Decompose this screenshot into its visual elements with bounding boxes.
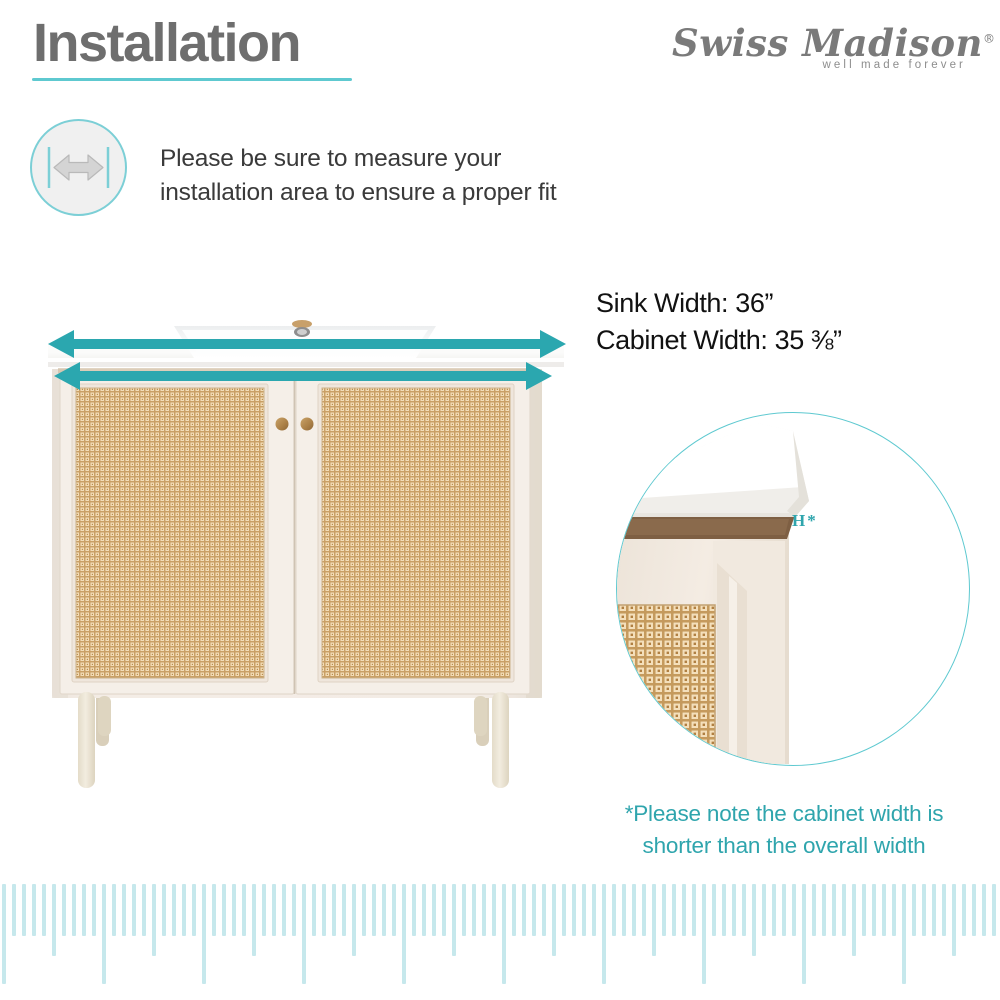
door-knob-left — [276, 418, 289, 431]
ruler-tick — [552, 884, 556, 956]
ruler-tick — [782, 884, 786, 936]
ruler-tick — [412, 884, 416, 936]
ruler-tick — [442, 884, 446, 936]
ruler-tick — [142, 884, 146, 936]
ruler-tick — [242, 884, 246, 936]
ruler-tick — [752, 884, 756, 956]
ruler-tick — [182, 884, 186, 936]
ruler-tick — [482, 884, 486, 936]
ruler-tick — [382, 884, 386, 936]
measure-note-text: Please be sure to measure your installat… — [160, 142, 590, 210]
ruler-tick — [572, 884, 576, 936]
ruler-tick — [802, 884, 806, 984]
footnote: *Please note the cabinet width is shorte… — [594, 798, 974, 862]
ruler-tick — [862, 884, 866, 936]
ruler-tick — [562, 884, 566, 936]
ruler-tick — [72, 884, 76, 936]
door-knob-right — [301, 418, 314, 431]
footnote-line-2: shorter than the overall width — [594, 830, 974, 862]
measure-note-line-2: installation area to ensure a proper fit — [160, 176, 590, 210]
ruler-tick — [42, 884, 46, 936]
ruler-tick — [982, 884, 986, 936]
ruler-tick — [212, 884, 216, 936]
measure-icon-badge — [30, 119, 127, 216]
ruler-tick — [972, 884, 976, 936]
ruler-tick — [102, 884, 106, 984]
ruler-tick — [932, 884, 936, 936]
ruler-tick — [622, 884, 626, 936]
ruler-tick — [22, 884, 26, 936]
ruler-tick — [522, 884, 526, 936]
ruler-tick — [272, 884, 276, 936]
ruler-tick — [92, 884, 96, 936]
ruler-tick — [512, 884, 516, 936]
ruler-tick — [252, 884, 256, 956]
ruler-tick — [902, 884, 906, 984]
leg-front-left — [78, 692, 95, 788]
cabinet-width-label: Cabinet Width: 35 ⅜” — [596, 322, 991, 359]
ruler-tick — [892, 884, 896, 936]
ruler-tick — [12, 884, 16, 936]
ruler-tick — [692, 884, 696, 936]
ruler-tick — [82, 884, 86, 936]
horizontal-double-arrow-icon — [32, 121, 125, 214]
ruler-tick — [222, 884, 226, 936]
ruler-tick — [402, 884, 406, 984]
ruler-tick — [842, 884, 846, 936]
ruler-tick — [192, 884, 196, 936]
ruler-tick — [332, 884, 336, 936]
ruler-tick — [302, 884, 306, 984]
leg-front-right — [492, 692, 509, 788]
faucet-hole — [292, 320, 312, 328]
page-title: Installation — [33, 16, 300, 70]
ruler-tick — [962, 884, 966, 936]
ruler-tick — [612, 884, 616, 936]
ruler-tick — [922, 884, 926, 936]
ruler-tick — [262, 884, 266, 936]
ruler-tick — [62, 884, 66, 936]
ruler-tick — [872, 884, 876, 936]
ruler-tick — [912, 884, 916, 936]
ruler-tick — [292, 884, 296, 936]
ruler-tick — [762, 884, 766, 936]
ruler-tick — [702, 884, 706, 984]
ruler-tick — [312, 884, 316, 936]
ruler-tick — [832, 884, 836, 936]
ruler-tick — [162, 884, 166, 936]
detail-marker-label: H — [792, 511, 807, 530]
dimension-block: Sink Width: 36” Cabinet Width: 35 ⅜” — [596, 285, 991, 360]
ruler-tick — [632, 884, 636, 936]
ruler-tick — [642, 884, 646, 936]
ruler-tick — [502, 884, 506, 984]
ruler-tick — [882, 884, 886, 936]
ruler-tick — [792, 884, 796, 936]
ruler-tick — [452, 884, 456, 956]
ruler-tick — [472, 884, 476, 936]
ruler-tick — [112, 884, 116, 936]
ruler-tick — [952, 884, 956, 956]
ruler-tick — [492, 884, 496, 936]
ruler-tick — [852, 884, 856, 956]
ruler-tick — [602, 884, 606, 984]
ruler-tick — [392, 884, 396, 936]
ruler-tick — [152, 884, 156, 956]
ruler-tick — [282, 884, 286, 936]
ruler-decoration — [0, 884, 1000, 1000]
ruler-tick — [432, 884, 436, 936]
ruler-tick — [672, 884, 676, 936]
title-underline — [32, 78, 352, 81]
registered-trademark-icon: ® — [983, 32, 996, 46]
ruler-tick — [52, 884, 56, 956]
ruler-tick — [532, 884, 536, 936]
detail-cane-panel — [617, 605, 715, 764]
ruler-tick — [722, 884, 726, 936]
ruler-tick — [462, 884, 466, 936]
ruler-tick — [822, 884, 826, 936]
ruler-tick — [372, 884, 376, 936]
detail-marker-asterisk: * — [807, 511, 818, 530]
ruler-tick — [362, 884, 366, 936]
ruler-tick — [662, 884, 666, 936]
ruler-tick — [122, 884, 126, 936]
ruler-tick — [542, 884, 546, 936]
ruler-tick — [742, 884, 746, 936]
ruler-tick — [652, 884, 656, 956]
ruler-tick — [202, 884, 206, 984]
footnote-line-1: *Please note the cabinet width is — [594, 798, 974, 830]
ruler-tick — [352, 884, 356, 956]
measure-note-line-1: Please be sure to measure your — [160, 142, 590, 176]
ruler-tick — [132, 884, 136, 936]
ruler-tick — [342, 884, 346, 936]
ruler-tick — [992, 884, 996, 936]
ruler-tick — [2, 884, 6, 984]
ruler-tick — [172, 884, 176, 936]
ruler-tick — [732, 884, 736, 936]
brand-logo: Swiss Madison® well made forever — [672, 24, 972, 90]
ruler-tick — [772, 884, 776, 936]
ruler-tick — [32, 884, 36, 936]
ruler-tick — [592, 884, 596, 936]
ruler-tick — [812, 884, 816, 936]
corner-detail-circle — [616, 412, 970, 766]
sink-width-label: Sink Width: 36” — [596, 285, 991, 322]
ruler-tick — [322, 884, 326, 936]
detail-height-marker: H* — [792, 511, 818, 531]
ruler-tick — [422, 884, 426, 936]
ruler-tick — [232, 884, 236, 936]
ruler-tick — [712, 884, 716, 936]
vanity-illustration — [44, 296, 574, 796]
ruler-tick — [942, 884, 946, 936]
ruler-tick — [682, 884, 686, 936]
ruler-tick — [582, 884, 586, 936]
brand-wordmark: Swiss Madison® — [672, 24, 972, 63]
